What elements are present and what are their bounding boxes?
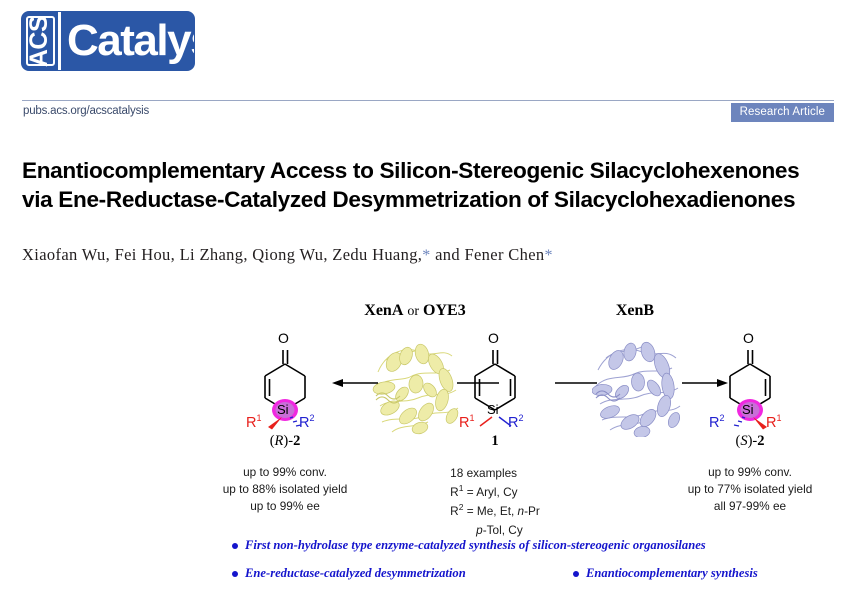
enzyme-conjunction: or: [407, 304, 419, 319]
highlight-text-3: Enantiocomplementary synthesis: [586, 566, 758, 581]
r1-index: 1: [256, 413, 261, 423]
metric-yield-R: up to 88% isolated yield: [195, 481, 375, 498]
stereodescriptor-R: R: [275, 433, 284, 449]
reaction-arrow-left: [330, 376, 380, 390]
highlight-row-1: First non-hydrolase type enzyme-catalyze…: [0, 538, 854, 560]
enzyme-label-left: XenAorOYE3: [325, 302, 505, 320]
oxygen-label-S: O: [743, 330, 754, 346]
page-title: Enantiocomplementary Access to Silicon-S…: [22, 157, 828, 214]
compound-number-R: 2: [293, 433, 300, 449]
highlight-item-2: Ene-reductase-catalyzed desymmetrization: [232, 566, 466, 581]
r2-index-s: 2: [719, 413, 724, 423]
article-type-badge: Research Article: [731, 103, 834, 122]
highlight-text-2: Ene-reductase-catalyzed desymmetrization: [245, 566, 466, 581]
compound-label-S: (S)-2: [660, 433, 840, 450]
enzyme-label-right: XenB: [565, 302, 705, 320]
r2-letter-s: R: [709, 415, 719, 431]
highlight-item-3: Enantiocomplementary synthesis: [573, 566, 758, 581]
substrate-column: O Si R1 R2 1 18 examples R1 = Aryl, Cy R…: [425, 324, 565, 539]
r2-def-letter: R: [450, 504, 459, 518]
silicon-label-S: Si: [742, 402, 754, 417]
author-names: Xiaofan Wu, Fei Hou, Li Zhang, Qiong Wu,…: [22, 245, 422, 264]
metric-ee-R: up to 99% ee: [195, 498, 375, 515]
enzyme-xena-label: XenA: [364, 302, 403, 319]
journal-wordmark: Catalysis: [61, 12, 194, 70]
substituent-R2-label-S-product: R2: [709, 413, 725, 431]
substituent-R2-label-R-product: R2: [299, 413, 315, 431]
structure-R-product: O Si R1 R2: [225, 324, 345, 432]
r1-def-value: = Aryl, Cy: [463, 485, 517, 499]
substituent-R1-label-R-product: R1: [246, 413, 262, 431]
compound-label-substrate: 1: [425, 433, 565, 450]
oxygen-label-substrate: O: [488, 330, 499, 346]
r2-letter: R: [299, 415, 309, 431]
highlight-item-1: First non-hydrolase type enzyme-catalyze…: [232, 538, 706, 553]
acs-mark-text: ACS: [26, 15, 55, 66]
graphical-abstract: XenAorOYE3 XenB: [0, 298, 854, 538]
r1-index-sub: 1: [469, 413, 474, 423]
compound-label-R: (R)-2: [195, 433, 375, 450]
substituent-R2-label-substrate: R2: [508, 413, 524, 431]
r1-def-letter: R: [450, 485, 459, 499]
r2-def-sup: 2: [459, 502, 464, 512]
compound-number-substrate: 1: [491, 433, 498, 449]
substituent-definitions: 18 examples R1 = Aryl, Cy R2 = Me, Et, n…: [450, 464, 540, 539]
author-list: Xiaofan Wu, Fei Hou, Li Zhang, Qiong Wu,…: [22, 245, 553, 265]
metric-conversion-R: up to 99% conv.: [195, 464, 375, 481]
r2-index: 2: [309, 413, 314, 423]
highlights-list: First non-hydrolase type enzyme-catalyze…: [0, 538, 854, 588]
r1-definition: R1 = Aryl, Cy: [450, 482, 540, 501]
journal-logo: ACS Catalysis: [22, 12, 194, 70]
structure-substrate: O Si R1 R2: [435, 324, 555, 432]
metric-conversion-S: up to 99% conv.: [660, 464, 840, 481]
product-S-column: O Si R2 R1 (S)-2 up to 99% conv. up to 7…: [660, 324, 840, 515]
highlight-text-1: First non-hydrolase type enzyme-catalyze…: [245, 538, 706, 553]
stereodescriptor-S: S: [740, 433, 747, 449]
examples-count: 18 examples: [450, 464, 540, 482]
product-R-column: O Si R1 R2 (R)-2 up to 99% conv. up to 8…: [195, 324, 375, 515]
r1-letter-s: R: [766, 415, 776, 431]
r1-index-s: 1: [776, 413, 781, 423]
r2-definition-cont: p-Tol, Cy: [450, 521, 540, 539]
enzyme-oye3-label: OYE3: [423, 302, 466, 319]
silicon-label-R: Si: [277, 402, 289, 417]
r2-definition: R2 = Me, Et, n-Pr: [450, 501, 540, 520]
acs-society-mark: ACS: [22, 12, 61, 70]
substituent-R1-label-substrate: R1: [459, 413, 475, 431]
compound-number-S: 2: [757, 433, 764, 449]
bullet-icon: [573, 571, 579, 577]
corresponding-author-marker: *: [422, 247, 430, 264]
enzyme-xenb-label: XenB: [616, 302, 654, 319]
r1-letter: R: [246, 415, 256, 431]
metrics-S-product: up to 99% conv. up to 77% isolated yield…: [660, 464, 840, 515]
header-divider: [22, 100, 834, 101]
metric-ee-S: all 97-99% ee: [660, 498, 840, 515]
highlight-row-2: Ene-reductase-catalyzed desymmetrization…: [0, 566, 854, 588]
r1-letter-sub: R: [459, 415, 469, 431]
substituent-R1-label-S-product: R1: [766, 413, 782, 431]
bullet-icon: [232, 543, 238, 549]
running-head-url[interactable]: pubs.acs.org/acscatalysis: [23, 105, 149, 117]
silicon-label-substrate: Si: [487, 402, 499, 417]
metrics-R-product: up to 99% conv. up to 88% isolated yield…: [195, 464, 375, 515]
structure-S-product: O Si R2 R1: [690, 324, 810, 432]
r2-letter-sub: R: [508, 415, 518, 431]
metric-yield-S: up to 77% isolated yield: [660, 481, 840, 498]
bullet-icon: [232, 571, 238, 577]
r2-index-sub: 2: [518, 413, 523, 423]
corresponding-author-marker-2: *: [545, 247, 553, 264]
oxygen-label-R: O: [278, 330, 289, 346]
author-names-tail: and Fener Chen: [431, 245, 545, 264]
